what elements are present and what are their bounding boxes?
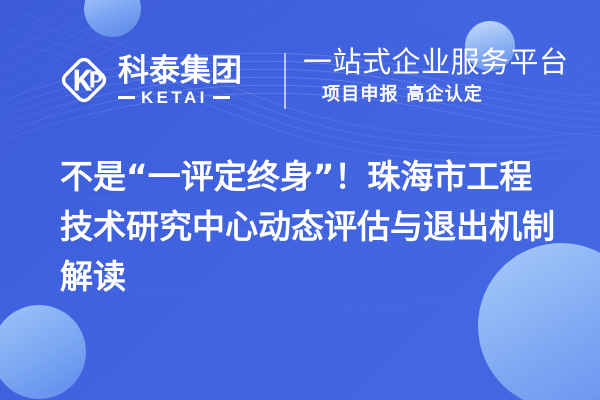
brand-name-en: KETAI	[135, 89, 213, 107]
headline-block: 不是“一评定终身”！珠海市工程 技术研究中心动态评估与退出机制 解读	[60, 152, 565, 302]
brand-dash-right-icon	[213, 96, 230, 99]
banner-header: 科泰集团 KETAI 一站式企业服务平台 项目申报 高企认定	[0, 0, 600, 140]
brand-name-en-row: KETAI	[118, 89, 242, 107]
headline-line-1: 不是“一评定终身”！珠海市工程	[60, 152, 565, 202]
decor-circle-bottom-left	[0, 305, 86, 399]
tagline-primary: 一站式企业服务平台	[303, 45, 569, 79]
ketai-diamond-kp-logo-icon	[57, 53, 111, 107]
tagline-secondary: 项目申报 高企认定	[303, 83, 569, 106]
headline-line-2: 技术研究中心动态评估与退出机制	[60, 202, 565, 252]
brand-name-cn: 科泰集团	[118, 54, 242, 88]
brand-lockup: 科泰集团 KETAI	[57, 49, 242, 111]
brand-wordmark: 科泰集团 KETAI	[118, 54, 242, 107]
promo-banner: 科泰集团 KETAI 一站式企业服务平台 项目申报 高企认定 不是“一评定终身”…	[0, 0, 600, 400]
tagline-block: 一站式企业服务平台 项目申报 高企认定	[303, 45, 569, 106]
brand-dash-left-icon	[118, 96, 135, 99]
headline-line-3: 解读	[60, 252, 565, 302]
header-divider	[284, 53, 286, 109]
